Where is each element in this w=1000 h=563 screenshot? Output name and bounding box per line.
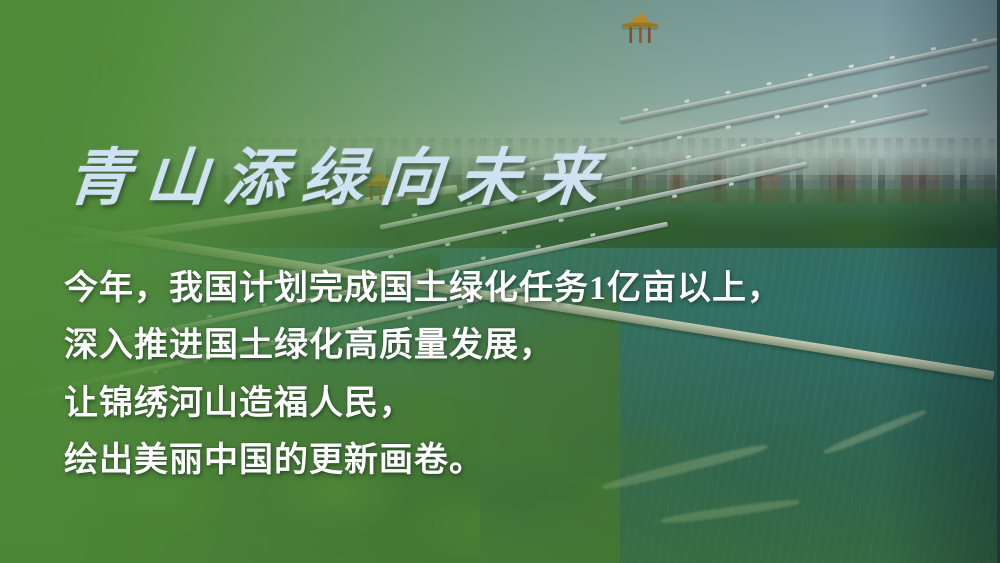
body-line-3: 让锦绣河山造福人民，	[64, 383, 824, 424]
body-line-4: 绘出美丽中国的更新画卷。	[64, 440, 824, 481]
body-line-2: 深入推进国土绿化高质量发展，	[64, 325, 824, 366]
poster-canvas: 青山添绿向未来 今年，我国计划完成国土绿化任务1亿亩以上， 深入推进国土绿化高质…	[0, 0, 1000, 563]
poster-body-copy: 今年，我国计划完成国土绿化任务1亿亩以上， 深入推进国土绿化高质量发展， 让锦绣…	[64, 268, 824, 482]
poster-title: 青山添绿向未来	[65, 148, 616, 210]
body-line-1: 今年，我国计划完成国土绿化任务1亿亩以上，	[64, 268, 824, 309]
